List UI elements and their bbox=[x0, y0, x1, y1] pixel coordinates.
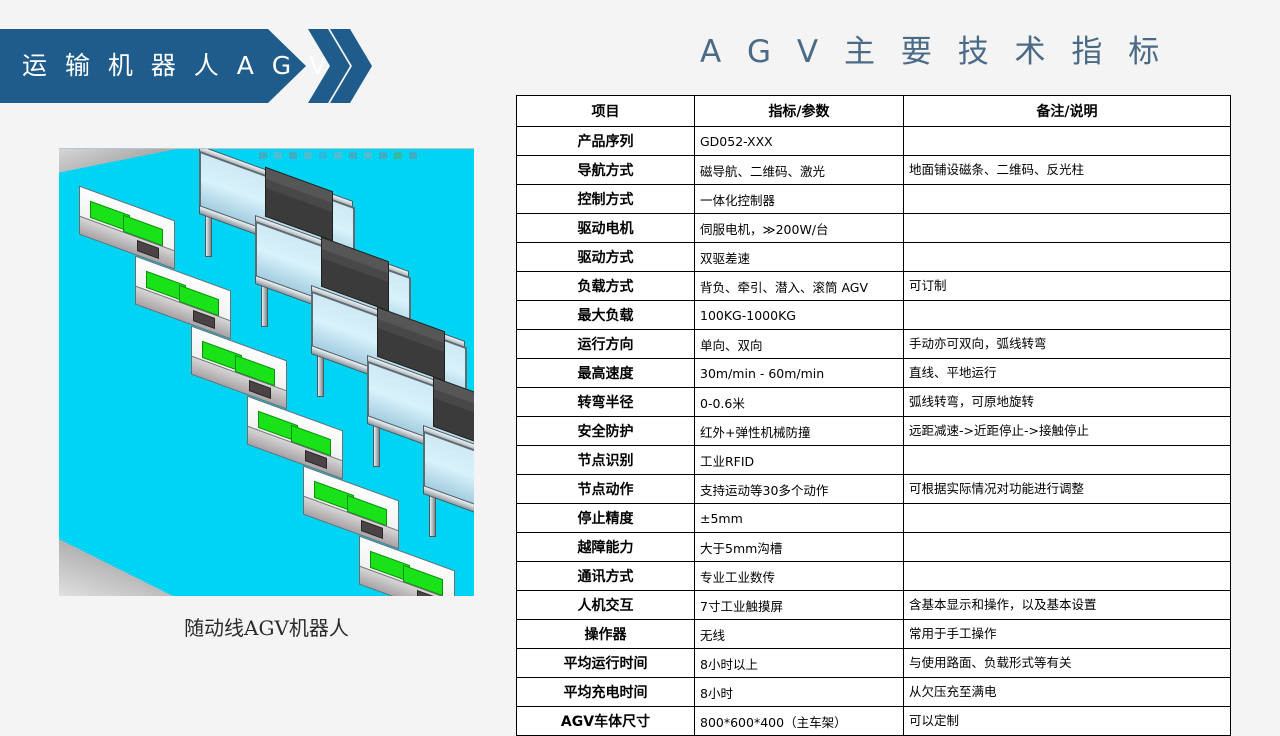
cell-note: 直线、平地运行 bbox=[904, 359, 1231, 388]
cell-value: GD052-XXX bbox=[695, 127, 904, 156]
cell-value: 背负、牵引、潜入、滚筒 AGV bbox=[695, 272, 904, 301]
cell-item: 节点动作 bbox=[517, 475, 695, 504]
cell-note: 远距减速->近距停止->接触停止 bbox=[904, 417, 1231, 446]
table-row: 驱动方式双驱差速 bbox=[517, 243, 1231, 272]
cell-value: 磁导航、二维码、激光 bbox=[695, 156, 904, 185]
column-header-note: 备注/说明 bbox=[904, 96, 1231, 127]
cell-item: 停止精度 bbox=[517, 504, 695, 533]
cell-value: 伺服电机，≫200W/台 bbox=[695, 214, 904, 243]
table-row: 通讯方式专业工业数传 bbox=[517, 562, 1231, 591]
table-row: 转弯半径0-0.6米弧线转弯，可原地旋转 bbox=[517, 388, 1231, 417]
cell-note bbox=[904, 185, 1231, 214]
agv-robot bbox=[191, 337, 295, 409]
table-row: AGV车体尺寸800*600*400（主车架）可以定制 bbox=[517, 707, 1231, 736]
cell-note bbox=[904, 214, 1231, 243]
cell-value: 大于5mm沟槽 bbox=[695, 533, 904, 562]
conveyor-station bbox=[423, 437, 474, 557]
floor-wedge-top bbox=[59, 148, 187, 173]
table-row: 最高速度30m/min - 60m/min直线、平地运行 bbox=[517, 359, 1231, 388]
cad-toolbar-icon bbox=[394, 152, 402, 159]
table-row: 人机交互7寸工业触摸屏含基本显示和操作，以及基本设置 bbox=[517, 591, 1231, 620]
cell-item: 产品序列 bbox=[517, 127, 695, 156]
table-row: 越障能力大于5mm沟槽 bbox=[517, 533, 1231, 562]
cell-value: 8小时以上 bbox=[695, 649, 904, 678]
table-row: 节点识别工业RFID bbox=[517, 446, 1231, 475]
cell-item: 驱动方式 bbox=[517, 243, 695, 272]
cell-value: 双驱差速 bbox=[695, 243, 904, 272]
agv-line-illustration bbox=[59, 148, 474, 596]
banner-title: 运 输 机 器 人 A G V bbox=[22, 29, 331, 103]
table-row: 负载方式背负、牵引、潜入、滚筒 AGV可订制 bbox=[517, 272, 1231, 301]
cell-note bbox=[904, 562, 1231, 591]
cell-value: ±5mm bbox=[695, 504, 904, 533]
cell-item: 越障能力 bbox=[517, 533, 695, 562]
cell-note: 与使用路面、负载形式等有关 bbox=[904, 649, 1231, 678]
cell-value: 8小时 bbox=[695, 678, 904, 707]
cell-value: 7寸工业触摸屏 bbox=[695, 591, 904, 620]
section-banner: 运 输 机 器 人 A G V bbox=[0, 29, 380, 103]
cell-note bbox=[904, 127, 1231, 156]
cell-item: 平均充电时间 bbox=[517, 678, 695, 707]
cell-item: 人机交互 bbox=[517, 591, 695, 620]
agv-robot bbox=[135, 267, 239, 339]
cell-note bbox=[904, 446, 1231, 475]
cell-item: 转弯半径 bbox=[517, 388, 695, 417]
table-header-row: 项目 指标/参数 备注/说明 bbox=[517, 96, 1231, 127]
table-row: 平均充电时间8小时从欠压充至满电 bbox=[517, 678, 1231, 707]
cell-note bbox=[904, 504, 1231, 533]
cell-value: 一体化控制器 bbox=[695, 185, 904, 214]
cell-value: 0-0.6米 bbox=[695, 388, 904, 417]
cell-value: 30m/min - 60m/min bbox=[695, 359, 904, 388]
table-row: 停止精度±5mm bbox=[517, 504, 1231, 533]
cell-note bbox=[904, 243, 1231, 272]
cell-value: 800*600*400（主车架） bbox=[695, 707, 904, 736]
picture-caption: 随动线AGV机器人 bbox=[59, 612, 474, 641]
table-row: 操作器无线常用于手工操作 bbox=[517, 620, 1231, 649]
cell-item: 安全防护 bbox=[517, 417, 695, 446]
agv-robot bbox=[359, 547, 463, 596]
cell-note: 地面铺设磁条、二维码、反光柱 bbox=[904, 156, 1231, 185]
cell-value: 100KG-1000KG bbox=[695, 301, 904, 330]
table-row: 安全防护红外+弹性机械防撞远距减速->近距停止->接触停止 bbox=[517, 417, 1231, 446]
page-title: A G V 主 要 技 术 指 标 bbox=[700, 26, 1220, 71]
cell-note: 从欠压充至满电 bbox=[904, 678, 1231, 707]
cell-value: 无线 bbox=[695, 620, 904, 649]
agv-spec-table: 项目 指标/参数 备注/说明 产品序列GD052-XXX导航方式磁导航、二维码、… bbox=[516, 95, 1231, 736]
table-row: 运行方向单向、双向手动亦可双向，弧线转弯 bbox=[517, 330, 1231, 359]
cad-toolbar-icon bbox=[409, 152, 417, 159]
cell-note: 可以定制 bbox=[904, 707, 1231, 736]
cell-value: 专业工业数传 bbox=[695, 562, 904, 591]
table-row: 驱动电机伺服电机，≫200W/台 bbox=[517, 214, 1231, 243]
cell-note: 可订制 bbox=[904, 272, 1231, 301]
agv-robot bbox=[79, 197, 183, 269]
cell-value: 支持运动等30多个动作 bbox=[695, 475, 904, 504]
cell-item: AGV车体尺寸 bbox=[517, 707, 695, 736]
table-row: 最大负载100KG-1000KG bbox=[517, 301, 1231, 330]
agv-robot bbox=[303, 477, 407, 549]
table-row: 控制方式一体化控制器 bbox=[517, 185, 1231, 214]
cell-item: 操作器 bbox=[517, 620, 695, 649]
cell-note bbox=[904, 301, 1231, 330]
cell-item: 节点识别 bbox=[517, 446, 695, 475]
cell-item: 最高速度 bbox=[517, 359, 695, 388]
column-header-value: 指标/参数 bbox=[695, 96, 904, 127]
column-header-item: 项目 bbox=[517, 96, 695, 127]
agv-robot bbox=[247, 407, 351, 479]
table-row: 产品序列GD052-XXX bbox=[517, 127, 1231, 156]
cell-value: 红外+弹性机械防撞 bbox=[695, 417, 904, 446]
cell-note bbox=[904, 533, 1231, 562]
cad-toolbar-icon bbox=[379, 152, 387, 159]
cell-note: 弧线转弯，可原地旋转 bbox=[904, 388, 1231, 417]
cell-item: 最大负载 bbox=[517, 301, 695, 330]
cell-value: 工业RFID bbox=[695, 446, 904, 475]
table-row: 导航方式磁导航、二维码、激光地面铺设磁条、二维码、反光柱 bbox=[517, 156, 1231, 185]
cell-item: 负载方式 bbox=[517, 272, 695, 301]
cell-note: 可根据实际情况对功能进行调整 bbox=[904, 475, 1231, 504]
cell-item: 平均运行时间 bbox=[517, 649, 695, 678]
cell-value: 单向、双向 bbox=[695, 330, 904, 359]
cell-note: 手动亦可双向，弧线转弯 bbox=[904, 330, 1231, 359]
cell-note: 常用于手工操作 bbox=[904, 620, 1231, 649]
cell-note: 含基本显示和操作，以及基本设置 bbox=[904, 591, 1231, 620]
cell-item: 通讯方式 bbox=[517, 562, 695, 591]
table-row: 节点动作支持运动等30多个动作可根据实际情况对功能进行调整 bbox=[517, 475, 1231, 504]
floor-wedge-bottom bbox=[59, 538, 177, 596]
cell-item: 驱动电机 bbox=[517, 214, 695, 243]
cell-item: 导航方式 bbox=[517, 156, 695, 185]
table-row: 平均运行时间8小时以上与使用路面、负载形式等有关 bbox=[517, 649, 1231, 678]
cell-item: 控制方式 bbox=[517, 185, 695, 214]
cell-item: 运行方向 bbox=[517, 330, 695, 359]
